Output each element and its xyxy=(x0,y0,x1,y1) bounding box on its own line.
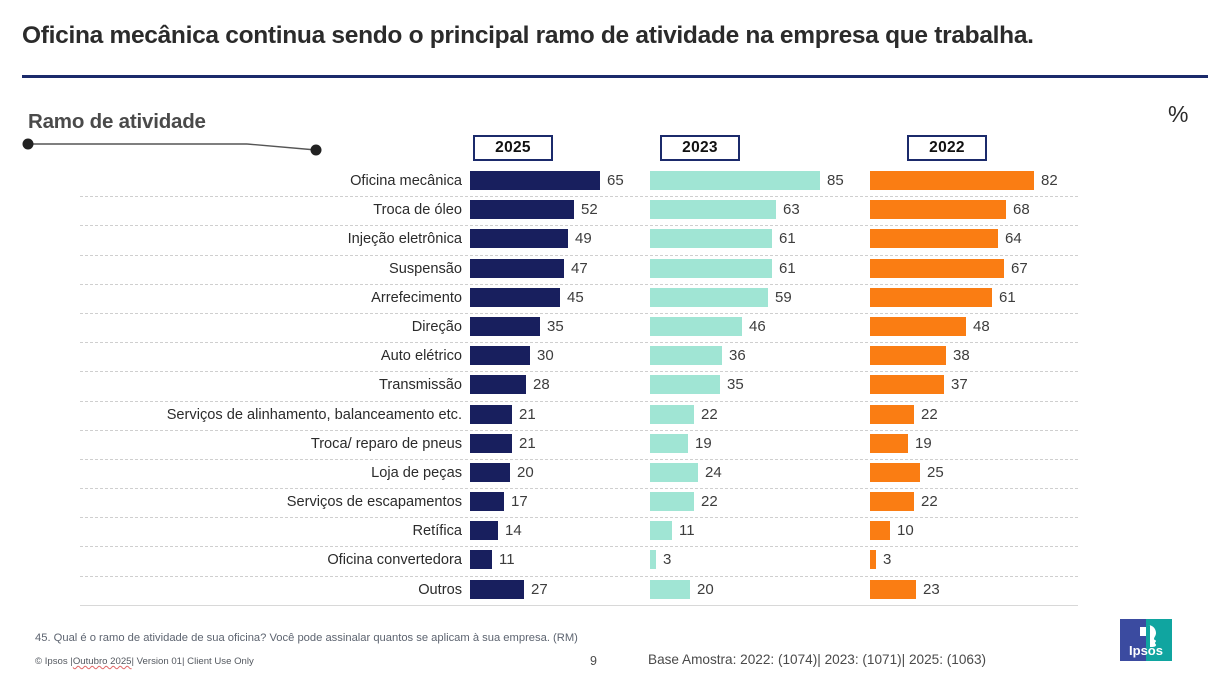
bar-value-2023: 20 xyxy=(697,580,714,599)
bar-2022[interactable] xyxy=(870,434,908,453)
bar-value-2025: 21 xyxy=(519,405,536,424)
bar-2023[interactable] xyxy=(650,521,672,540)
bar-2022[interactable] xyxy=(870,346,946,365)
bar-value-2025: 17 xyxy=(511,492,528,511)
bar-2025[interactable] xyxy=(470,200,574,219)
copyright-line: © Ipsos |Outubro 2025| Version 01| Clien… xyxy=(35,656,254,667)
chart-row: Direção354648 xyxy=(0,314,1208,343)
category-label: Troca de óleo xyxy=(80,200,462,220)
bar-value-2023: 61 xyxy=(779,229,796,248)
bar-value-2025: 30 xyxy=(537,346,554,365)
bar-2023[interactable] xyxy=(650,492,694,511)
bar-2023[interactable] xyxy=(650,434,688,453)
series-header-2025: 2025 xyxy=(473,135,553,161)
bar-2025[interactable] xyxy=(470,434,512,453)
chart-row: Oficina convertedora1133 xyxy=(0,547,1208,576)
bar-value-2023: 36 xyxy=(729,346,746,365)
footnote-question: 45. Qual é o ramo de atividade de sua of… xyxy=(35,632,578,644)
category-label: Oficina mecânica xyxy=(80,171,462,191)
bar-value-2023: 63 xyxy=(783,200,800,219)
bar-2022[interactable] xyxy=(870,405,914,424)
bar-2022[interactable] xyxy=(870,521,890,540)
chart-row: Arrefecimento455961 xyxy=(0,285,1208,314)
bar-chart: Oficina mecânica658582Troca de óleo52636… xyxy=(0,168,1208,608)
bar-2023[interactable] xyxy=(650,405,694,424)
bar-2025[interactable] xyxy=(470,171,600,190)
bar-2022[interactable] xyxy=(870,259,1004,278)
bar-value-2023: 35 xyxy=(727,375,744,394)
bar-value-2023: 11 xyxy=(679,521,695,540)
bar-value-2025: 11 xyxy=(499,550,515,569)
bar-2022[interactable] xyxy=(870,288,992,307)
bar-2025[interactable] xyxy=(470,288,560,307)
bar-2025[interactable] xyxy=(470,580,524,599)
chart-row: Injeção eletrônica496164 xyxy=(0,226,1208,255)
series-header-2022: 2022 xyxy=(907,135,987,161)
bar-2025[interactable] xyxy=(470,463,510,482)
chart-row: Oficina mecânica658582 xyxy=(0,168,1208,197)
category-label: Retífica xyxy=(80,521,462,541)
chart-row: Serviços de alinhamento, balanceamento e… xyxy=(0,402,1208,431)
chart-row: Troca de óleo526368 xyxy=(0,197,1208,226)
bar-value-2025: 52 xyxy=(581,200,598,219)
chart-row: Loja de peças202425 xyxy=(0,460,1208,489)
category-label: Injeção eletrônica xyxy=(80,229,462,249)
bar-value-2023: 46 xyxy=(749,317,766,336)
bar-2025[interactable] xyxy=(470,229,568,248)
bar-value-2025: 65 xyxy=(607,171,624,190)
base-sample-note: Base Amostra: 2022: (1074)| 2023: (1071)… xyxy=(648,652,986,667)
bar-2025[interactable] xyxy=(470,550,492,569)
section-label: Ramo de atividade xyxy=(28,110,206,134)
bar-value-2022: 68 xyxy=(1013,200,1030,219)
bar-value-2023: 85 xyxy=(827,171,844,190)
bar-value-2025: 49 xyxy=(575,229,592,248)
bar-value-2023: 61 xyxy=(779,259,796,278)
bar-value-2023: 22 xyxy=(701,405,718,424)
bar-value-2023: 3 xyxy=(663,550,671,569)
bar-value-2025: 20 xyxy=(517,463,534,482)
bar-value-2022: 25 xyxy=(927,463,944,482)
ipsos-logo: Ipsos xyxy=(1118,615,1174,665)
bar-2023[interactable] xyxy=(650,550,656,569)
bar-2022[interactable] xyxy=(870,229,998,248)
bar-2022[interactable] xyxy=(870,492,914,511)
bar-value-2022: 67 xyxy=(1011,259,1028,278)
bar-2023[interactable] xyxy=(650,346,722,365)
bar-2023[interactable] xyxy=(650,229,772,248)
bar-2023[interactable] xyxy=(650,375,720,394)
bar-value-2022: 64 xyxy=(1005,229,1022,248)
chart-row: Troca/ reparo de pneus211919 xyxy=(0,431,1208,460)
row-gridline xyxy=(80,605,1078,606)
bar-value-2025: 45 xyxy=(567,288,584,307)
chart-row: Serviços de escapamentos172222 xyxy=(0,489,1208,518)
category-label: Transmissão xyxy=(80,375,462,395)
chart-row: Outros272023 xyxy=(0,577,1208,606)
category-label: Direção xyxy=(80,317,462,337)
category-label: Serviços de escapamentos xyxy=(80,492,462,512)
category-label: Arrefecimento xyxy=(80,288,462,308)
page-number: 9 xyxy=(590,654,597,668)
bar-2022[interactable] xyxy=(870,550,876,569)
bar-value-2022: 19 xyxy=(915,434,932,453)
copyright-date: Outubro 2025 xyxy=(73,656,132,667)
bar-2023[interactable] xyxy=(650,463,698,482)
percent-symbol: % xyxy=(1168,101,1188,128)
bar-2022[interactable] xyxy=(870,317,966,336)
category-label: Oficina convertedora xyxy=(80,550,462,570)
bar-2025[interactable] xyxy=(470,521,498,540)
bar-value-2022: 37 xyxy=(951,375,968,394)
bar-value-2022: 38 xyxy=(953,346,970,365)
bar-value-2022: 10 xyxy=(897,521,914,540)
bar-2022[interactable] xyxy=(870,171,1034,190)
bar-value-2025: 35 xyxy=(547,317,564,336)
ipsos-logo-text: Ipsos xyxy=(1129,643,1163,658)
bar-2025[interactable] xyxy=(470,317,540,336)
title-divider xyxy=(22,75,1208,78)
category-label: Auto elétrico xyxy=(80,346,462,366)
copyright-prefix: © Ipsos | xyxy=(35,656,73,667)
bar-value-2025: 14 xyxy=(505,521,522,540)
bar-2023[interactable] xyxy=(650,171,820,190)
bar-2023[interactable] xyxy=(650,580,690,599)
bar-2022[interactable] xyxy=(870,580,916,599)
bar-value-2023: 22 xyxy=(701,492,718,511)
connector-line-icon xyxy=(22,140,322,154)
bar-2025[interactable] xyxy=(470,492,504,511)
bar-2025[interactable] xyxy=(470,405,512,424)
bar-2025[interactable] xyxy=(470,259,564,278)
section-label-group: Ramo de atividade xyxy=(14,110,344,156)
bar-value-2025: 28 xyxy=(533,375,550,394)
bar-2023[interactable] xyxy=(650,259,772,278)
bar-value-2022: 22 xyxy=(921,492,938,511)
bar-value-2023: 19 xyxy=(695,434,712,453)
bar-2023[interactable] xyxy=(650,317,742,336)
bar-value-2022: 22 xyxy=(921,405,938,424)
bar-2025[interactable] xyxy=(470,346,530,365)
category-label: Serviços de alinhamento, balanceamento e… xyxy=(80,405,462,425)
series-header-2023: 2023 xyxy=(660,135,740,161)
category-label: Loja de peças xyxy=(80,463,462,483)
bar-value-2022: 82 xyxy=(1041,171,1058,190)
chart-row: Retífica141110 xyxy=(0,518,1208,547)
bar-2023[interactable] xyxy=(650,200,776,219)
bar-2022[interactable] xyxy=(870,200,1006,219)
bar-value-2022: 3 xyxy=(883,550,891,569)
bar-value-2022: 48 xyxy=(973,317,990,336)
category-label: Suspensão xyxy=(80,259,462,279)
bar-2025[interactable] xyxy=(470,375,526,394)
bar-2023[interactable] xyxy=(650,288,768,307)
bar-value-2025: 27 xyxy=(531,580,548,599)
chart-row: Auto elétrico303638 xyxy=(0,343,1208,372)
bar-value-2025: 47 xyxy=(571,259,588,278)
bar-value-2022: 23 xyxy=(923,580,940,599)
bar-2022[interactable] xyxy=(870,375,944,394)
category-label: Outros xyxy=(80,580,462,600)
chart-row: Suspensão476167 xyxy=(0,256,1208,285)
bar-value-2023: 59 xyxy=(775,288,792,307)
page-title: Oficina mecânica continua sendo o princi… xyxy=(22,22,1192,50)
bar-2022[interactable] xyxy=(870,463,920,482)
bar-value-2023: 24 xyxy=(705,463,722,482)
copyright-suffix: | Version 01| Client Use Only xyxy=(132,656,254,667)
bar-value-2025: 21 xyxy=(519,434,536,453)
chart-row: Transmissão283537 xyxy=(0,372,1208,401)
category-label: Troca/ reparo de pneus xyxy=(80,434,462,454)
bar-value-2022: 61 xyxy=(999,288,1016,307)
